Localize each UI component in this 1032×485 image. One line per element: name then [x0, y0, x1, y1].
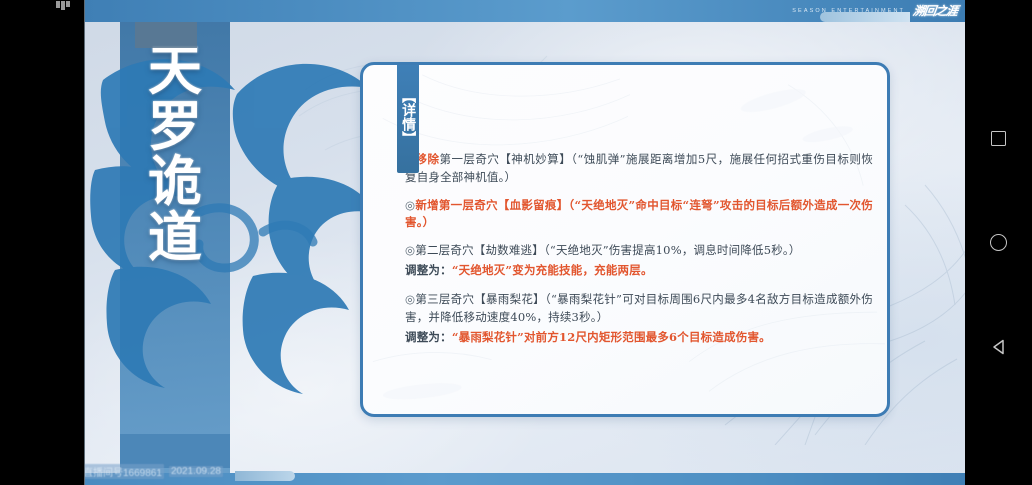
paragraph-3-text: 第二层奇穴【劫数难逃】（“天绝地灭”伤害提高10%，调息时间降低5秒。） [415, 243, 800, 257]
watermark-bar-decoration [235, 471, 295, 481]
viewport-left-edge [84, 0, 85, 485]
paragraph-5-text: 第三层奇穴【暴雨梨花】（“暴雨梨花针”可对目标周围6尺内最多4名敌方目标造成额外… [405, 292, 873, 324]
paragraph-4-text: “天绝地灭”变为充能技能，充能两层。 [452, 263, 653, 277]
adjust-label-1: 调整为： [405, 263, 452, 277]
status-bar-1 [56, 1, 60, 8]
square-icon [991, 131, 1006, 146]
recents-button[interactable] [989, 129, 1009, 149]
triangle-back-icon [990, 338, 1008, 356]
paragraph-6: 调整为：“暴雨梨花针”对前方12尺内矩形范围最多6个目标造成伤害。 [405, 329, 873, 347]
phone-screen: SEASON ENTERTAINMENT 溯回之涯 [0, 0, 1032, 485]
paragraph-3: ◎第二层奇穴【劫数难逃】（“天绝地灭”伤害提高10%，调息时间降低5秒。） [405, 242, 873, 260]
banner-char-4: 道 [148, 213, 202, 263]
detail-paragraph-list: ◎移除第一层奇穴【神机妙算】（“蚀肌弹”施展距离增加5尺，施展任何招式重伤目标则… [405, 151, 873, 357]
watermark-date: 2021.09.28 [169, 466, 223, 477]
status-bar-3 [66, 1, 70, 7]
banner-char-3: 诡 [148, 157, 202, 207]
detail-tab-label: 【详情】 [397, 62, 419, 173]
top-bar-nub-decoration [135, 22, 197, 48]
home-button[interactable] [989, 233, 1009, 253]
circle-icon [990, 234, 1007, 251]
bullet-3: ◎ [405, 243, 415, 257]
paragraph-2-text: 第一层奇穴【血影留痕】（“天绝地灭”命中目标“连弩”攻击的目标后额外造成一次伤害… [405, 198, 873, 230]
paragraph-5: ◎第三层奇穴【暴雨梨花】（“暴雨梨花针”可对目标周围6尺内最多4名敌方目标造成额… [405, 291, 873, 327]
brand-logo: 溯回之涯 [912, 5, 958, 17]
watermark-block-decoration [120, 434, 230, 468]
paragraph-1: ◎移除第一层奇穴【神机妙算】（“蚀肌弹”施展距离增加5尺，施展任何招式重伤目标则… [405, 151, 873, 187]
paragraph-4: 调整为：“天绝地灭”变为充能技能，充能两层。 [405, 262, 873, 280]
banner-char-1: 天 [148, 46, 202, 96]
title-banner: 天 罗 诡 道 [120, 0, 230, 473]
detail-tab-text: 【详情】 [400, 89, 416, 145]
game-viewport: SEASON ENTERTAINMENT 溯回之涯 [85, 0, 965, 485]
stream-watermark: 斗鱼 直播间号1669861 2021.09.28 [85, 464, 223, 479]
adjust-label-2: 调整为： [405, 330, 452, 344]
left-bezel [0, 0, 85, 485]
paragraph-2: ◎新增第一层奇穴【血影留痕】（“天绝地灭”命中目标“连弩”攻击的目标后额外造成一… [405, 197, 873, 233]
top-bar-tab-decoration [820, 12, 910, 22]
paragraph-6-text: “暴雨梨花针”对前方12尺内矩形范围最多6个目标造成伤害。 [452, 330, 771, 344]
banner-title-text: 天 罗 诡 道 [120, 46, 230, 263]
highlight-2: 新增 [415, 198, 439, 212]
paragraph-1-text: 第一层奇穴【神机妙算】（“蚀肌弹”施展距离增加5尺，施展任何招式重伤目标则恢复自… [405, 152, 873, 184]
bullet-5: ◎ [405, 292, 415, 306]
detail-card: 【详情】 ◎移除第一层奇穴【神机妙算】（“蚀肌弹”施展距离增加5尺，施展任何招式… [360, 62, 890, 417]
status-indicator [56, 1, 70, 10]
back-button[interactable] [989, 337, 1009, 357]
bullet-2: ◎ [405, 198, 415, 212]
banner-char-2: 罗 [148, 102, 202, 152]
android-navigation-bar [965, 0, 1032, 485]
status-bar-2 [61, 1, 65, 10]
highlight-1: 移除 [416, 152, 440, 166]
watermark-room: 直播间号1669861 [85, 464, 164, 479]
